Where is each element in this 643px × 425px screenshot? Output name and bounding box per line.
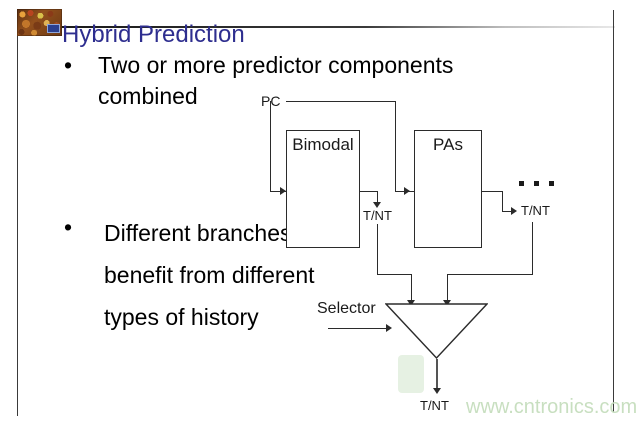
left-border-line (17, 36, 18, 416)
ellipsis-dot-2 (534, 181, 539, 186)
wire-pc-to-bimodal-drop (270, 101, 271, 191)
arrowhead-final-out-icon (433, 388, 441, 394)
arrowhead-pas-out-icon (511, 207, 517, 215)
wire-bimodal-out-h (360, 191, 377, 192)
bullet-item-2: • Different branches benefit from differ… (64, 212, 324, 338)
diagram-box-bimodal-label: Bimodal (287, 135, 359, 155)
bullet-item-1: • Two or more predictor components combi… (64, 50, 534, 112)
mux-selector-shape (385, 303, 488, 359)
right-border-line (613, 10, 614, 412)
signal-label-pas-out: T/NT (521, 203, 550, 218)
slide-logo-icon (17, 9, 62, 36)
slide-logo-accent-icon (47, 24, 60, 33)
signal-label-bimodal-out: T/NT (363, 208, 392, 223)
wire-pc-to-pas-drop (395, 101, 396, 191)
wire-pas-out-h1 (482, 191, 502, 192)
page-title: Hybrid Prediction (62, 21, 245, 49)
wire-selector-in (328, 328, 390, 329)
watermark-text: www.cntronics.com (466, 396, 637, 419)
watermark-glyph-icon (398, 355, 424, 393)
diagram-box-pas-label: PAs (415, 135, 481, 155)
wire-pc-bus (286, 101, 396, 102)
arrowhead-pas-input-icon (404, 187, 410, 195)
ellipsis-dot-3 (549, 181, 554, 186)
bullet-text-1: Two or more predictor components combine… (98, 50, 534, 112)
bullet-marker-2: • (64, 212, 72, 243)
selector-label: Selector (317, 300, 376, 318)
diagram-box-pas: PAs (414, 130, 482, 248)
wire-pas-to-mux-h (447, 274, 533, 275)
wire-pas-out-v (502, 191, 503, 211)
bullet-marker-1: • (64, 50, 72, 81)
diagram-box-bimodal: Bimodal (286, 130, 360, 248)
wire-pas-to-mux-v1 (532, 222, 533, 274)
wire-bimodal-to-mux-h (377, 274, 411, 275)
ellipsis-dot-1 (519, 181, 524, 186)
slide-canvas: Hybrid Prediction • Two or more predicto… (0, 0, 643, 425)
wire-bimodal-to-mux-v1 (377, 224, 378, 274)
signal-label-final-out: T/NT (420, 398, 449, 413)
